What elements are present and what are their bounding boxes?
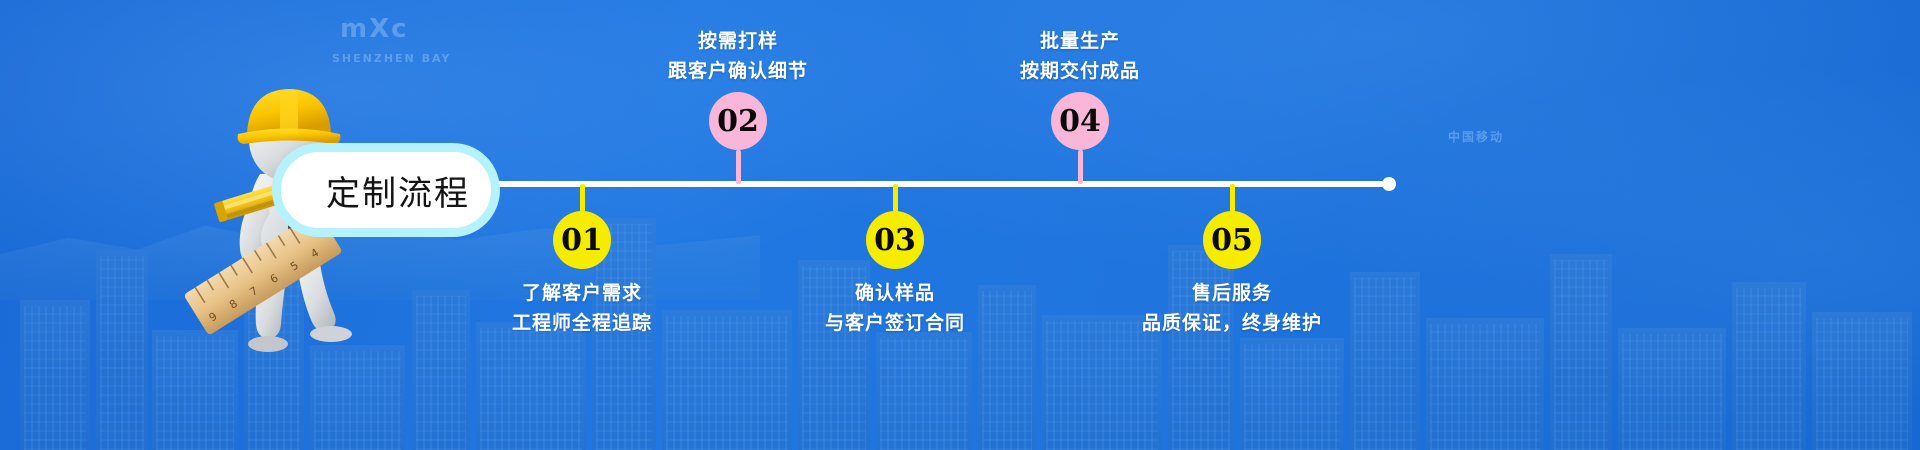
step-number-badge[interactable]: 04: [1051, 92, 1109, 150]
step-connector-line: [893, 184, 898, 212]
step-connector-line: [580, 184, 585, 212]
step-caption: 批量生产按期交付成品: [880, 26, 1280, 86]
step-connector-line: [736, 150, 741, 184]
step-number-badge[interactable]: 03: [866, 211, 924, 269]
step-number-badge[interactable]: 05: [1203, 211, 1261, 269]
building: [20, 300, 90, 450]
building: [1240, 338, 1344, 450]
step-number-badge[interactable]: 02: [709, 92, 767, 150]
step-caption: 按需打样跟客户确认细节: [538, 26, 938, 86]
building: [1732, 282, 1806, 450]
building: [96, 250, 148, 450]
building: [1550, 254, 1612, 450]
building: [310, 345, 405, 450]
building: [1426, 318, 1544, 450]
building: [1812, 312, 1912, 450]
timeline-axis: [470, 181, 1390, 187]
background-sign-mxc: mXc: [340, 14, 409, 44]
building: [1618, 328, 1726, 450]
section-title-pill: 定制流程: [272, 143, 500, 237]
building: [876, 332, 972, 450]
building: [476, 322, 586, 450]
building: [1168, 245, 1234, 450]
step-number-badge[interactable]: 01: [553, 211, 611, 269]
step-caption: 售后服务品质保证，终身维护: [1032, 278, 1432, 338]
step-connector-line: [1078, 150, 1083, 184]
page-title: 定制流程: [302, 166, 470, 215]
timeline-end-dot-icon: [1382, 177, 1396, 191]
process-timeline-banner: mXc SHENZHEN BAY 中国移动: [0, 0, 1920, 450]
background-sign-china-mobile: 中国移动: [1448, 128, 1504, 145]
step-connector-line: [1230, 184, 1235, 212]
